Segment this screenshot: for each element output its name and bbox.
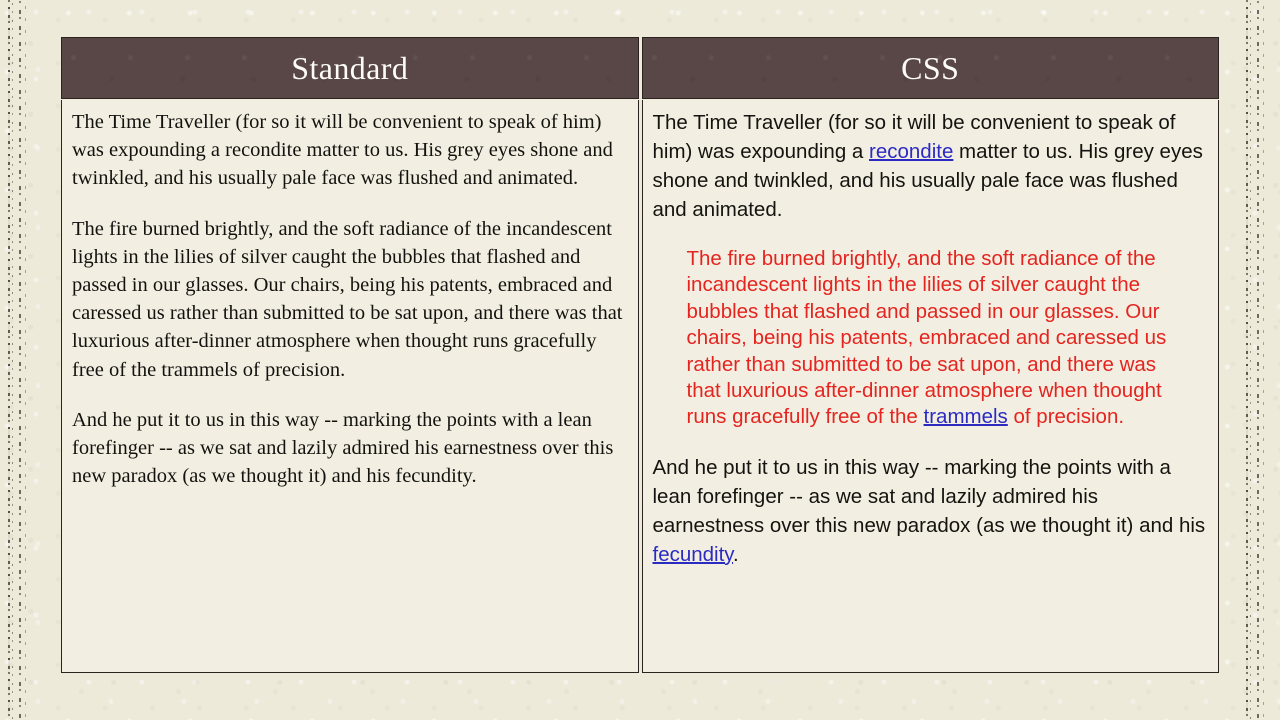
- css-paragraph-3: And he put it to us in this way -- marki…: [653, 453, 1207, 569]
- css-blockquote-text-after: of precision.: [1008, 405, 1124, 428]
- column-header-css: CSS: [642, 37, 1220, 99]
- link-trammels[interactable]: trammels: [924, 405, 1008, 428]
- comparison-table: Standard CSS The Time Traveller (for so …: [61, 37, 1219, 673]
- table-header-row: Standard CSS: [61, 37, 1219, 99]
- right-edge-decoration: [1246, 0, 1272, 720]
- standard-paragraph-1: The Time Traveller (for so it will be co…: [72, 108, 626, 193]
- css-paragraph-1: The Time Traveller (for so it will be co…: [653, 108, 1207, 224]
- column-header-standard-label: Standard: [291, 50, 408, 87]
- column-header-css-label: CSS: [901, 50, 959, 87]
- css-blockquote: The fire burned brightly, and the soft r…: [687, 246, 1173, 431]
- link-fecundity[interactable]: fecundity: [653, 543, 734, 566]
- table-body-row: The Time Traveller (for so it will be co…: [61, 100, 1219, 673]
- left-edge-decoration: [8, 0, 34, 720]
- standard-paragraph-3: And he put it to us in this way -- marki…: [72, 406, 626, 491]
- standard-column-cell: The Time Traveller (for so it will be co…: [61, 100, 639, 673]
- column-header-standard: Standard: [61, 37, 639, 99]
- link-recondite[interactable]: recondite: [869, 140, 953, 163]
- standard-paragraph-2: The fire burned brightly, and the soft r…: [72, 215, 626, 384]
- css-paragraph-3-text-before: And he put it to us in this way -- marki…: [653, 456, 1206, 537]
- css-blockquote-text-before: The fire burned brightly, and the soft r…: [687, 247, 1167, 428]
- css-paragraph-3-text-after: .: [733, 543, 739, 566]
- css-column-cell: The Time Traveller (for so it will be co…: [642, 100, 1220, 673]
